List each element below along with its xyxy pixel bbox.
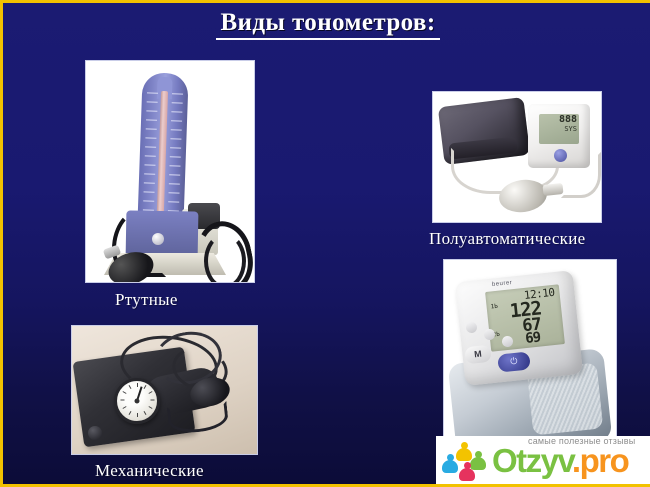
watermark-brand: Otzyv.pro	[492, 442, 628, 480]
pressure-gauge	[114, 378, 160, 424]
caption-mercury: Ртутные	[115, 290, 178, 310]
mercury-scale-ticks	[137, 72, 188, 229]
gauge-hub	[135, 399, 140, 404]
caption-mechanical: Механические	[95, 461, 204, 481]
semi-automatic-tonometer-photo: 888 SYS	[432, 91, 602, 223]
mercury-sphygmomanometer-photo	[85, 60, 255, 283]
semi-lcd-display: 888 SYS	[539, 114, 579, 144]
watermark-brand-part2: pro	[580, 442, 629, 479]
wrist-tonometer-photo: beurer 12:10 1Ь 122 67 2Ь 69 M ⏻ C E	[443, 259, 617, 466]
semi-release-valve	[542, 183, 563, 196]
mechanical-clip	[88, 426, 102, 440]
semi-lcd-line1: SYS	[564, 125, 577, 133]
semi-start-button	[554, 149, 567, 162]
watermark-brand-dot: .	[572, 442, 580, 479]
mercury-column	[137, 72, 188, 229]
page-title: Виды тонометров:	[3, 9, 650, 40]
page-title-text: Виды тонометров:	[216, 9, 439, 40]
watermark-logo[interactable]: самые полезные отзывы Otzyv.pro	[436, 436, 650, 486]
presentation-slide: Виды тонометров:	[0, 0, 650, 487]
caption-semi-automatic: Полуавтоматические	[429, 229, 585, 249]
watermark-brand-part1: Otzyv	[492, 442, 572, 479]
wrist-lcd-display: 12:10 1Ь 122 67 2Ь 69	[485, 284, 565, 351]
mercury-coiled-hose-2	[204, 233, 246, 283]
wrist-lcd-pulse: 69	[525, 330, 541, 347]
semi-lcd-value: 888	[539, 115, 577, 125]
people-group-icon	[440, 442, 488, 482]
mechanical-tonometer-photo	[71, 325, 258, 455]
wrist-lcd-label-sys: 1Ь	[490, 303, 498, 311]
